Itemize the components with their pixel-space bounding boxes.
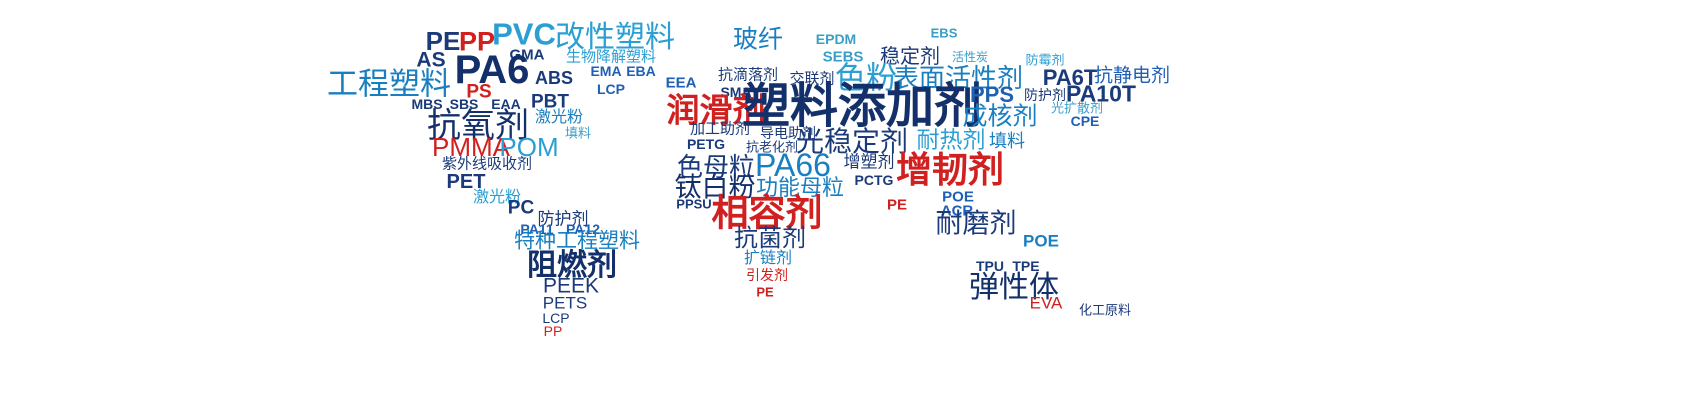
word-cloud-term[interactable]: 加工助剂 bbox=[690, 122, 750, 137]
word-cloud-term[interactable]: 扩链剂 bbox=[744, 251, 792, 267]
word-cloud-term[interactable]: 抗菌剂 bbox=[734, 227, 806, 251]
word-cloud-term[interactable]: EPDM bbox=[816, 32, 856, 46]
word-cloud-canvas: PEPPPVCGMA改性塑料玻纤EPDMEBSASPA6生物降解塑料SEBS稳定… bbox=[0, 0, 1707, 400]
word-cloud-term[interactable]: PC bbox=[508, 199, 534, 218]
word-cloud-term[interactable]: 填料 bbox=[989, 132, 1025, 150]
word-cloud-term[interactable]: 引发剂 bbox=[746, 268, 788, 282]
word-cloud-term[interactable]: POE bbox=[1023, 233, 1059, 250]
word-cloud-term[interactable]: 激光粉 bbox=[535, 110, 583, 126]
word-cloud-term[interactable]: PP bbox=[544, 324, 563, 338]
word-cloud-term[interactable]: 增韧剂 bbox=[896, 152, 1004, 188]
word-cloud-term[interactable]: PETS bbox=[543, 295, 587, 312]
word-cloud-term[interactable]: PETG bbox=[687, 137, 725, 151]
word-cloud-term[interactable]: EEA bbox=[666, 76, 697, 91]
word-cloud-term[interactable]: EVA bbox=[1030, 295, 1063, 312]
word-cloud-term[interactable]: 玻纤 bbox=[733, 28, 783, 53]
word-cloud-term[interactable]: PVC bbox=[492, 19, 556, 50]
word-cloud-term[interactable]: EBS bbox=[931, 27, 958, 40]
word-cloud-term[interactable]: PE bbox=[756, 286, 773, 299]
word-cloud-term[interactable]: EMA bbox=[590, 64, 621, 78]
word-cloud-term[interactable]: 增塑剂 bbox=[844, 154, 895, 171]
word-cloud-term[interactable]: 活性炭 bbox=[952, 51, 988, 63]
word-cloud-term[interactable]: CPE bbox=[1071, 114, 1100, 128]
word-cloud-term[interactable]: ABS bbox=[535, 69, 573, 87]
word-cloud-term[interactable]: 填料 bbox=[565, 127, 591, 140]
word-cloud-term[interactable]: 耐磨剂 bbox=[936, 211, 1017, 238]
word-cloud-term[interactable]: 工程塑料 bbox=[327, 69, 451, 100]
word-cloud-term[interactable]: PPSU bbox=[676, 198, 711, 211]
word-cloud-term[interactable]: PE bbox=[887, 198, 907, 213]
word-cloud-term[interactable]: 化工原料 bbox=[1079, 304, 1131, 317]
word-cloud-term[interactable]: 紫外线吸收剂 bbox=[442, 157, 532, 172]
word-cloud-term[interactable]: PCTG bbox=[855, 173, 894, 187]
word-cloud-term[interactable]: 塑料添加剂 bbox=[742, 83, 982, 131]
word-cloud-term[interactable]: LCP bbox=[597, 82, 625, 96]
word-cloud-term[interactable]: EBA bbox=[626, 64, 656, 78]
